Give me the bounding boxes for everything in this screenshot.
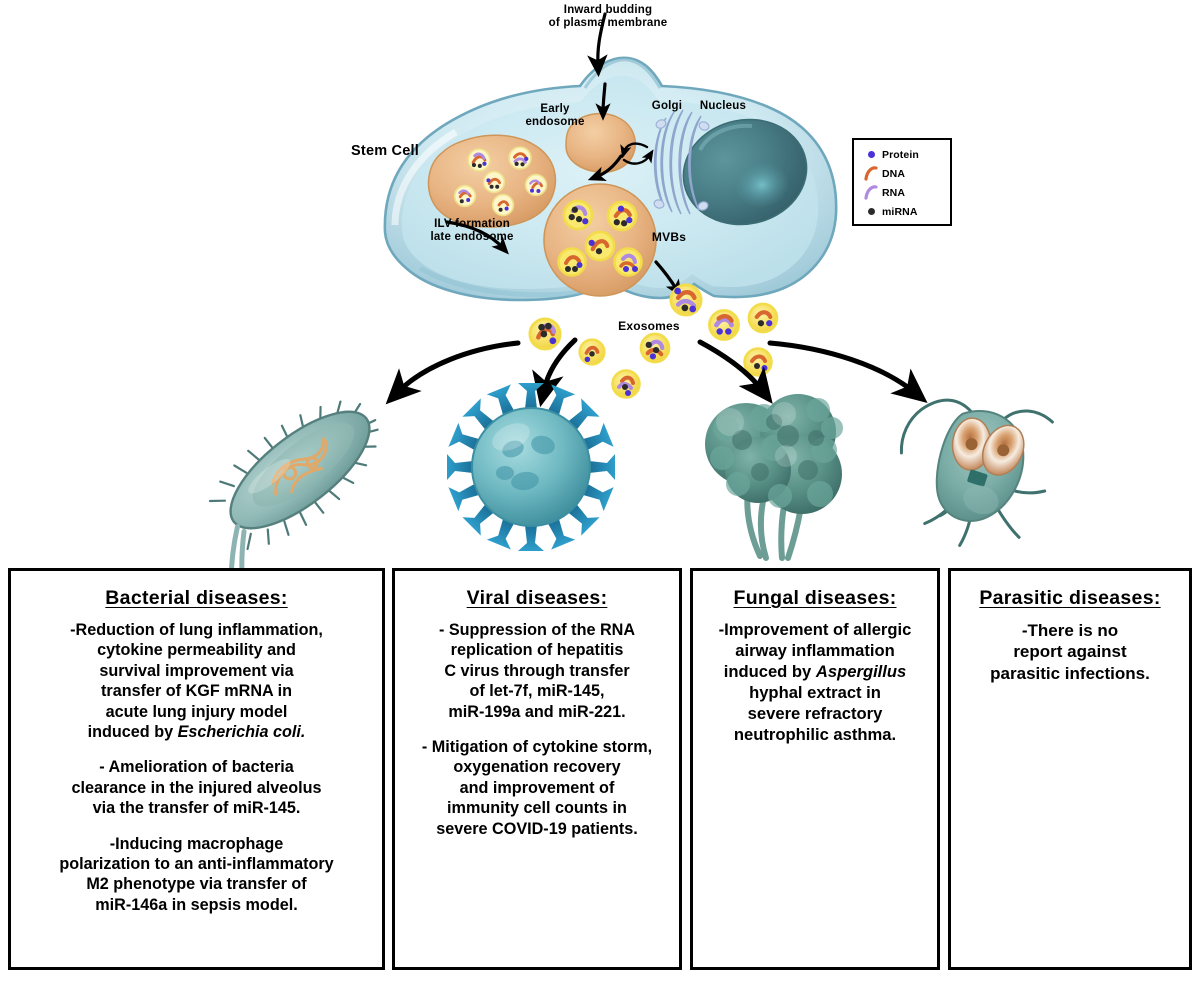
- diagram-canvas: Inward budding of plasma membrane Stem C…: [0, 0, 1200, 983]
- exosome-cluster: [530, 285, 777, 398]
- inward-budding-label: Inward budding of plasma membrane: [528, 4, 688, 30]
- fungal-diseases-title: Fungal diseases:: [701, 587, 929, 610]
- viral-paragraph-2: - Mitigation of cytokine storm, oxygenat…: [403, 737, 671, 839]
- nucleus-label: Nucleus: [690, 100, 756, 113]
- legend-item-rna: RNA: [860, 183, 946, 202]
- legend-item-protein: Protein: [860, 145, 946, 164]
- arrow-to-bacterium: [398, 343, 518, 392]
- protein-dot-icon: [860, 151, 882, 158]
- legend-label-protein: Protein: [882, 149, 919, 161]
- arrow-to-parasite: [770, 343, 914, 392]
- parasitic-diseases-box: Parasitic diseases: -There is no report …: [948, 568, 1192, 970]
- ilv-late-endosome-label: ILV formation late endosome: [414, 218, 530, 244]
- legend-label-rna: RNA: [882, 187, 905, 199]
- bacterial-paragraph-3: -Inducing macrophage polarization to an …: [19, 834, 374, 916]
- conidial-heads: [705, 394, 843, 514]
- mvbs-label: MVBs: [644, 231, 694, 244]
- stem-cell-label: Stem Cell: [330, 143, 440, 159]
- legend-label-mirna: miRNA: [882, 206, 918, 218]
- legend-box: Protein DNA RNA miRNA: [852, 138, 952, 226]
- budding-arrow-inner: [603, 84, 605, 112]
- parasitic-paragraph-1: -There is no report against parasitic in…: [959, 620, 1181, 684]
- legend-label-dna: DNA: [882, 168, 905, 180]
- viral-diseases-box: Viral diseases: - Suppression of the RNA…: [392, 568, 682, 970]
- viral-diseases-title: Viral diseases:: [403, 587, 671, 610]
- golgi-label: Golgi: [637, 100, 697, 113]
- rna-curve-icon: [860, 185, 882, 200]
- viral-paragraph-1: - Suppression of the RNA replication of …: [403, 620, 671, 722]
- exosomes-label: Exosomes: [604, 320, 694, 333]
- virus-illustration: [447, 383, 615, 551]
- viral-diseases-body: - Suppression of the RNA replication of …: [403, 620, 671, 839]
- legend-item-mirna: miRNA: [860, 202, 946, 221]
- bacterial-diseases-box: Bacterial diseases: -Reduction of lung i…: [8, 568, 385, 970]
- species-name: Aspergillus: [816, 662, 906, 681]
- parasitic-diseases-title: Parasitic diseases:: [959, 587, 1181, 610]
- parasitic-diseases-body: -There is no report against parasitic in…: [959, 620, 1181, 684]
- legend-item-dna: DNA: [860, 164, 946, 183]
- mvb-shape: [544, 184, 656, 296]
- bacterial-paragraph-1: -Reduction of lung inflammation, cytokin…: [19, 620, 374, 742]
- early-endosome-label: Early endosome: [510, 103, 600, 129]
- bacterial-diseases-body: -Reduction of lung inflammation, cytokin…: [19, 620, 374, 915]
- mirna-dot-icon: [860, 208, 882, 215]
- bacterial-diseases-title: Bacterial diseases:: [19, 587, 374, 610]
- bacterial-paragraph-2: - Amelioration of bacteria clearance in …: [19, 757, 374, 818]
- fungal-paragraph-1: -Improvement of allergic airway inflamma…: [701, 620, 929, 745]
- fungal-diseases-body: -Improvement of allergic airway inflamma…: [701, 620, 929, 745]
- dna-curve-icon: [860, 166, 882, 181]
- late-endosome-shape: [428, 135, 555, 227]
- species-name: Escherichia coli.: [178, 723, 306, 741]
- fungus-illustration: [705, 394, 843, 558]
- parasite-illustration: [877, 376, 1067, 565]
- fungal-diseases-box: Fungal diseases: -Improvement of allergi…: [690, 568, 940, 970]
